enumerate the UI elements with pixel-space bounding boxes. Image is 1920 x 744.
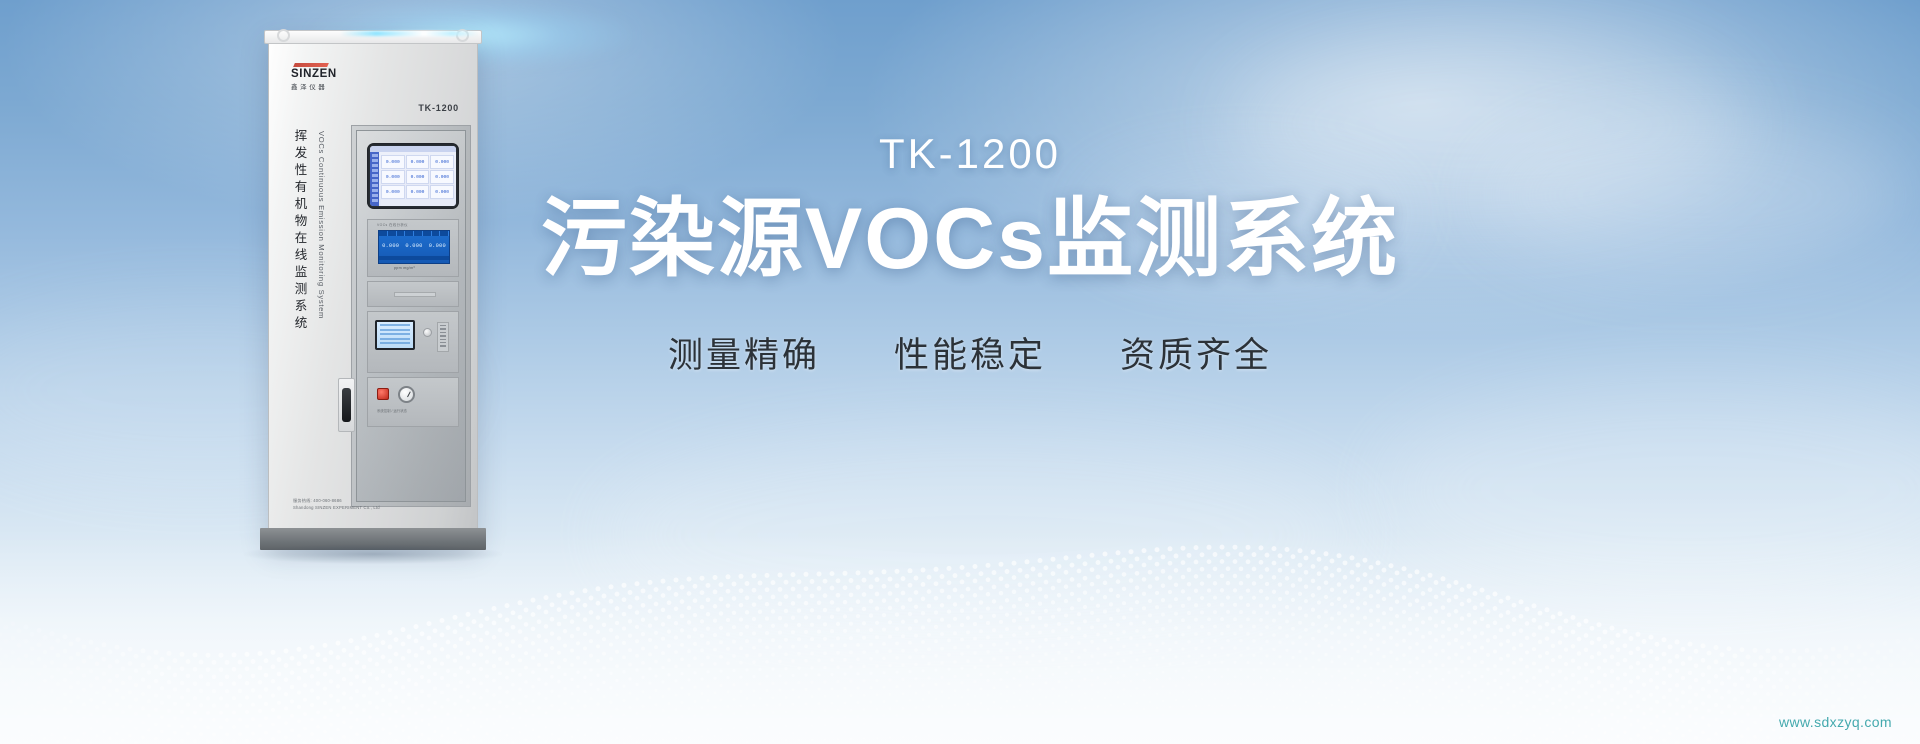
analyzer-tabbar xyxy=(379,231,449,236)
hmi-readout-grid: 0.000 0.000 0.000 0.000 0.000 0.000 0.00… xyxy=(381,155,454,199)
cabinet-door: 0.000 0.000 0.000 0.000 0.000 0.000 0.00… xyxy=(351,125,471,507)
hmi-readout-cell: 0.000 xyxy=(430,155,454,169)
lifting-ring-icon xyxy=(277,29,290,42)
hmi-readout-cell: 0.000 xyxy=(381,170,405,184)
power-button[interactable] xyxy=(377,388,389,400)
cabinet-vertical-en-text: VOCs Continuous Emission Monitoring Syst… xyxy=(317,131,326,319)
cabinet-footer-line2: Shandong SINZEN EXPERIMENT Co., Ltd xyxy=(293,505,380,512)
hmi-readout-cell: 0.000 xyxy=(406,170,430,184)
blank-panel xyxy=(367,281,459,307)
analyzer-footbar xyxy=(379,256,449,260)
panel-slot xyxy=(394,292,436,297)
bottom-glow xyxy=(0,534,1920,744)
controller-mini-screen xyxy=(375,320,415,350)
hmi-menu-rail[interactable] xyxy=(370,152,379,206)
logo-accent-bar xyxy=(293,63,329,67)
brand-logo: SINZEN 鑫泽仪器 xyxy=(291,63,337,91)
site-watermark: www.sdxzyq.com xyxy=(1779,714,1892,730)
hmi-readout-cell: 0.000 xyxy=(406,185,430,199)
brand-name: SINZEN xyxy=(291,68,337,80)
product-cabinet: SINZEN 鑫泽仪器 TK-1200 挥发性有机物在线监测系统 VOCs Co… xyxy=(262,22,484,550)
hmi-titlebar xyxy=(370,146,456,152)
hmi-screen: 0.000 0.000 0.000 0.000 0.000 0.000 0.00… xyxy=(370,146,456,206)
cloud-blob xyxy=(600,430,1360,640)
controller-module xyxy=(367,311,459,373)
cloud-blob xyxy=(1380,380,1920,600)
analyzer-value: 0.000 xyxy=(429,243,446,249)
feature-item: 资质齐全 xyxy=(1120,327,1272,378)
power-module: 系统控制 / 运行状态 xyxy=(367,377,459,427)
hmi-touchscreen[interactable]: 0.000 0.000 0.000 0.000 0.000 0.000 0.00… xyxy=(367,143,459,209)
led-strip xyxy=(340,31,480,36)
cabinet-glass-window: 0.000 0.000 0.000 0.000 0.000 0.000 0.00… xyxy=(356,130,466,502)
hmi-readout-cell: 0.000 xyxy=(430,185,454,199)
hmi-statusbar xyxy=(381,200,454,206)
cabinet-vertical-cn-text: 挥发性有机物在线监测系统 xyxy=(293,129,306,333)
banner-title: 污染源VOCs监测系统 xyxy=(520,194,1420,285)
cabinet-footer-text: 服务热线: 400-060-8686 Shandong SINZEN EXPER… xyxy=(293,498,380,511)
cloud-blob xyxy=(1480,120,1910,270)
control-caption: 系统控制 / 运行状态 xyxy=(377,408,407,413)
banner-feature-list: 测量精确 性能稳定 资质齐全 xyxy=(520,327,1420,378)
pressure-gauge xyxy=(398,386,415,403)
analyzer-unit-label: ppm mg/m³ xyxy=(394,266,415,270)
hmi-readout-cell: 0.000 xyxy=(430,170,454,184)
door-handle[interactable] xyxy=(342,388,351,422)
brand-name-cn: 鑫泽仪器 xyxy=(291,81,337,91)
cabinet-model-plate: TK-1200 xyxy=(418,103,459,113)
cabinet-body: SINZEN 鑫泽仪器 TK-1200 挥发性有机物在线监测系统 VOCs Co… xyxy=(268,32,478,542)
feature-item: 性能稳定 xyxy=(894,327,1046,378)
cabinet-shadow xyxy=(244,544,502,564)
analyzer-caption: VOCs 在线分析仪 xyxy=(377,222,408,227)
product-banner: SINZEN 鑫泽仪器 TK-1200 挥发性有机物在线监测系统 VOCs Co… xyxy=(0,0,1920,744)
control-knob[interactable] xyxy=(423,328,432,337)
hmi-readout-cell: 0.000 xyxy=(381,155,405,169)
banner-model-label: TK-1200 xyxy=(520,130,1420,178)
analyzer-value: 0.000 xyxy=(382,243,399,249)
analyzer-module: VOCs 在线分析仪 0.000 0.000 0.000 ppm mg/m³ xyxy=(367,219,459,277)
analyzer-value: 0.000 xyxy=(405,243,422,249)
analyzer-values: 0.000 0.000 0.000 xyxy=(379,236,449,256)
analyzer-display: 0.000 0.000 0.000 xyxy=(378,230,450,264)
hmi-readout-cell: 0.000 xyxy=(381,185,405,199)
feature-item: 测量精确 xyxy=(668,327,820,378)
banner-copy: TK-1200 污染源VOCs监测系统 测量精确 性能稳定 资质齐全 xyxy=(520,130,1420,378)
hmi-readout-cell: 0.000 xyxy=(406,155,430,169)
flow-meter xyxy=(437,322,449,352)
